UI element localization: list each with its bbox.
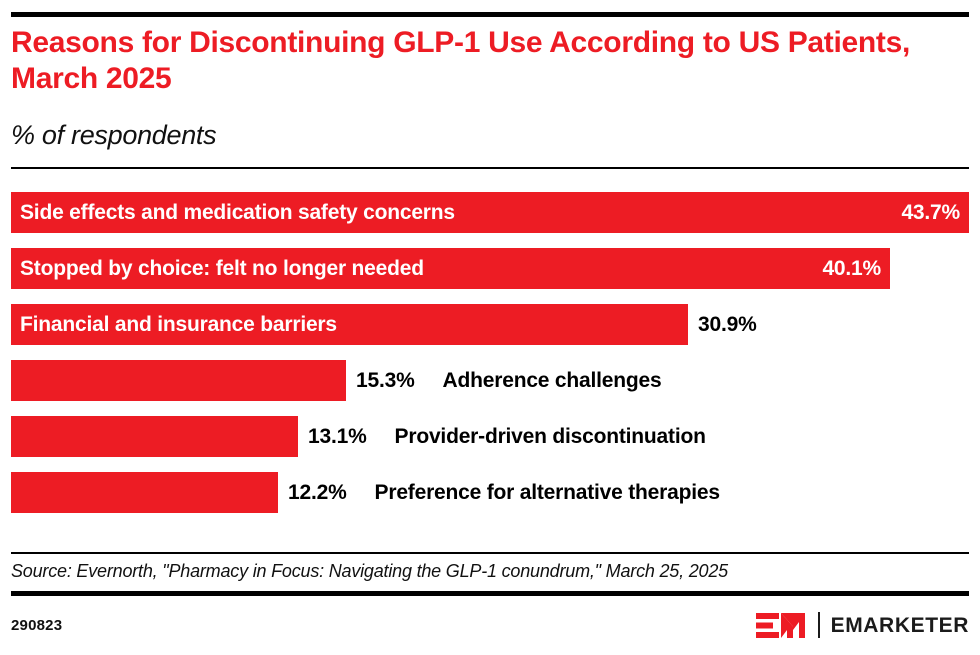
source-divider-rule [11, 552, 969, 554]
bar-row: Stopped by choice: felt no longer needed… [11, 248, 969, 289]
bar-value-label: 13.1% [308, 416, 367, 457]
bar-row: Adherence challenges15.3% [11, 360, 969, 401]
emarketer-brand: EMARKETER [756, 610, 969, 640]
bar-row: Provider-driven discontinuation13.1% [11, 416, 969, 457]
bar-row: Side effects and medication safety conce… [11, 192, 969, 233]
page-subtitle: % of respondents [11, 118, 911, 152]
bar-value-label: 15.3% [356, 360, 415, 401]
bar-value-label: 30.9% [698, 304, 757, 345]
page-title: Reasons for Discontinuing GLP-1 Use Acco… [11, 25, 911, 97]
bar-fill [11, 416, 298, 457]
top-rule [11, 12, 969, 17]
bar-fill [11, 360, 346, 401]
bar-category-label: Side effects and medication safety conce… [20, 192, 455, 233]
brand-divider [818, 612, 820, 638]
bottom-rule [11, 591, 969, 596]
bar-fill [11, 472, 278, 513]
bar-category-label: Provider-driven discontinuation [395, 416, 706, 457]
bar-value-label: 43.7% [901, 192, 960, 233]
bar-category-label: Adherence challenges [443, 360, 662, 401]
bar-category-label: Preference for alternative therapies [375, 472, 720, 513]
bar-chart-plot-area: Side effects and medication safety conce… [11, 192, 969, 542]
bar-category-label: Stopped by choice: felt no longer needed [20, 248, 424, 289]
em-logo-icon [756, 612, 808, 639]
bar-value-label: 12.2% [288, 472, 347, 513]
bar-value-label: 40.1% [822, 248, 881, 289]
bar-row: Preference for alternative therapies12.2… [11, 472, 969, 513]
bar-category-label: Financial and insurance barriers [20, 304, 337, 345]
chart-container: Reasons for Discontinuing GLP-1 Use Acco… [0, 0, 980, 655]
bar-row: Financial and insurance barriers30.9% [11, 304, 969, 345]
brand-wordmark: EMARKETER [831, 615, 969, 636]
header-divider-rule [11, 167, 969, 169]
chart-id-label: 290823 [11, 617, 62, 634]
source-note: Source: Evernorth, "Pharmacy in Focus: N… [11, 559, 969, 583]
